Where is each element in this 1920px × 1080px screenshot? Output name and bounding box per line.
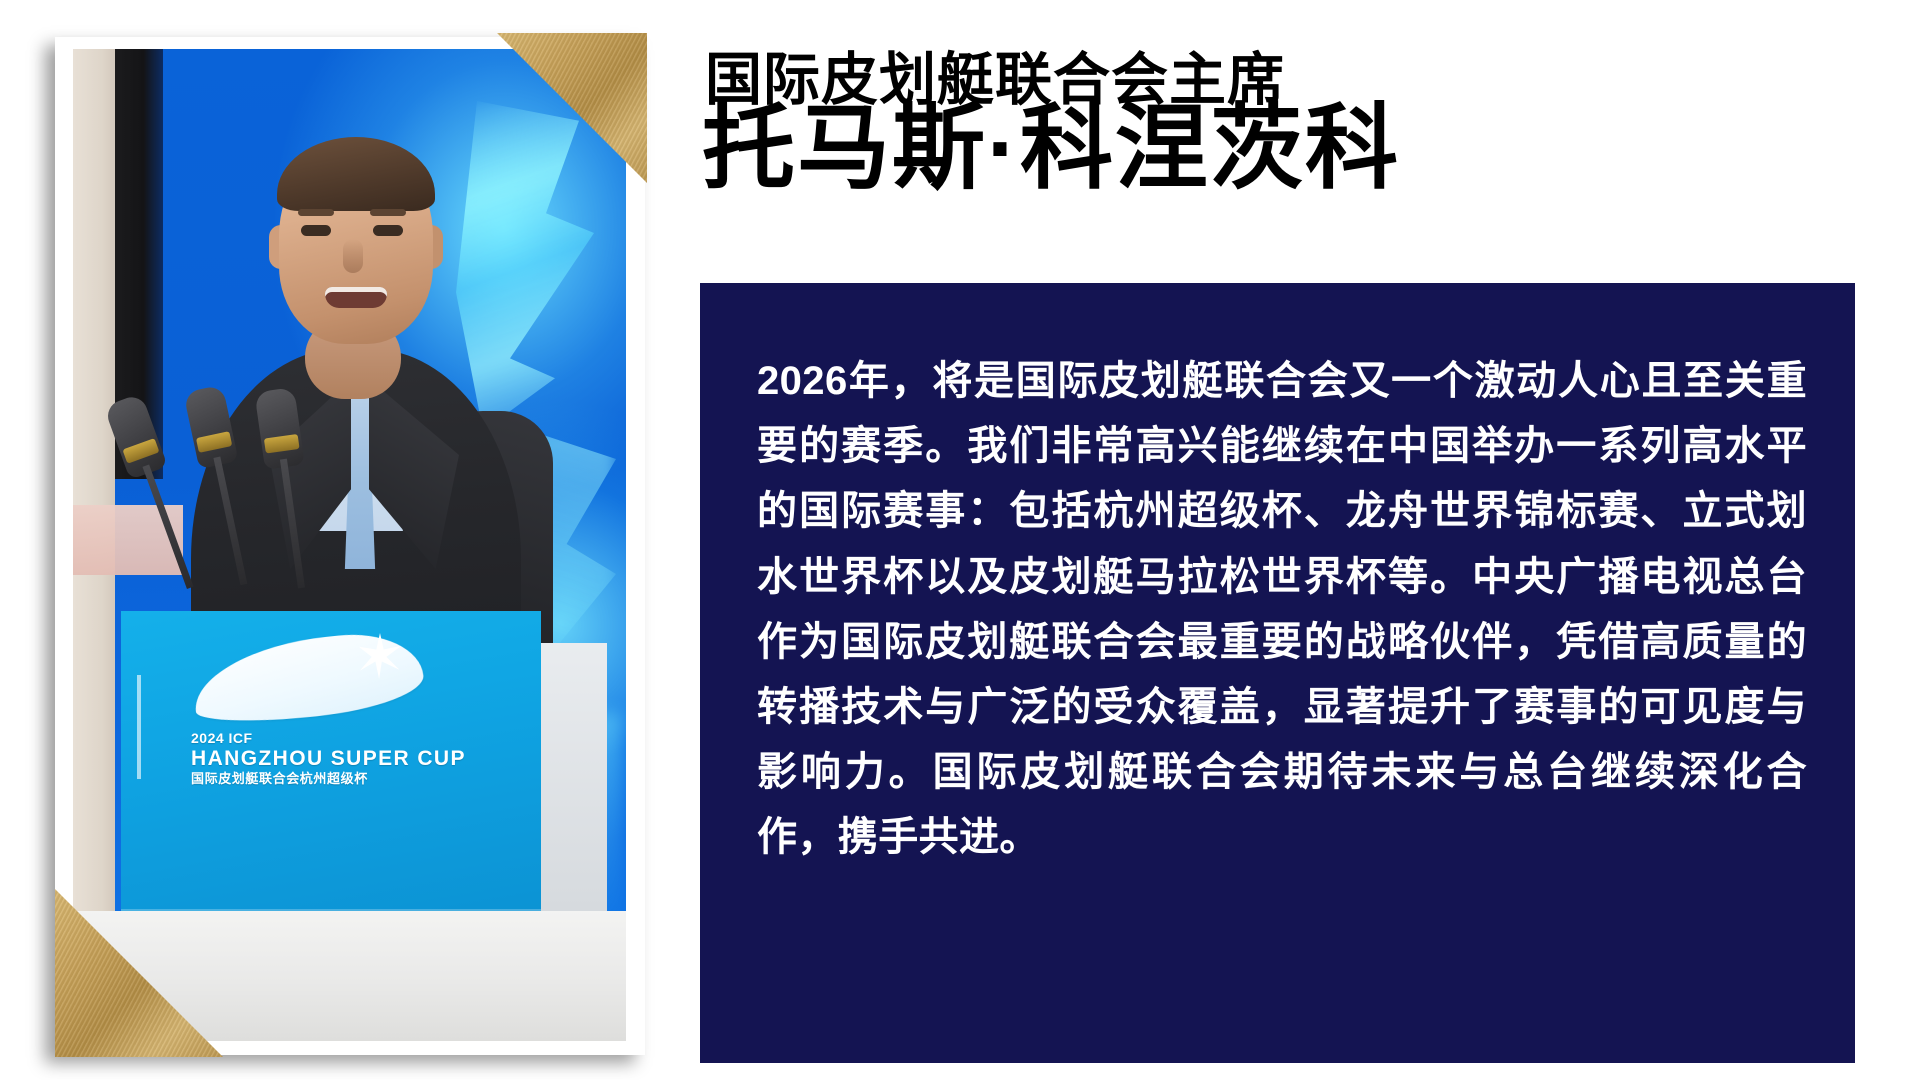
- quote-text: 2026年，将是国际皮划艇联合会又一个激动人心且至关重要的赛季。我们非常高兴能继…: [757, 349, 1807, 871]
- event-logo-icon: [190, 627, 427, 729]
- speaker-name-title: 托马斯·科涅茨科: [702, 100, 1400, 198]
- speaker-photo-card: 2024 ICF HANGZHOU SUPER CUP 国际皮划艇联合会杭州超级…: [55, 37, 645, 1055]
- microphone-band: [122, 438, 159, 464]
- podium-event-text: 2024 ICF HANGZHOU SUPER CUP 国际皮划艇联合会杭州超级…: [191, 731, 466, 787]
- speaker-eyebrow-right: [370, 209, 406, 216]
- podium-side-panel: [541, 643, 607, 911]
- podium: 2024 ICF HANGZHOU SUPER CUP 国际皮划艇联合会杭州超级…: [121, 611, 541, 911]
- microphone-band: [264, 434, 300, 454]
- podium-line-1: 2024 ICF: [191, 731, 466, 747]
- speaker-mouth: [325, 287, 387, 308]
- podium-line-3: 国际皮划艇联合会杭州超级杯: [191, 772, 466, 787]
- microphone-band: [196, 431, 232, 453]
- speaker-eye-right: [373, 225, 403, 236]
- speaker-eyebrow-left: [298, 209, 334, 216]
- speaker-nose: [343, 239, 363, 273]
- speaker-photograph: 2024 ICF HANGZHOU SUPER CUP 国际皮划艇联合会杭州超级…: [73, 49, 626, 1041]
- podium-accent-bar: [137, 675, 141, 779]
- quote-panel: 2026年，将是国际皮划艇联合会又一个激动人心且至关重要的赛季。我们非常高兴能继…: [700, 283, 1855, 1063]
- speaker-eye-left: [301, 225, 331, 236]
- poster-stage: 2024 ICF HANGZHOU SUPER CUP 国际皮划艇联合会杭州超级…: [0, 0, 1920, 1080]
- podium-line-2: HANGZHOU SUPER CUP: [191, 747, 466, 771]
